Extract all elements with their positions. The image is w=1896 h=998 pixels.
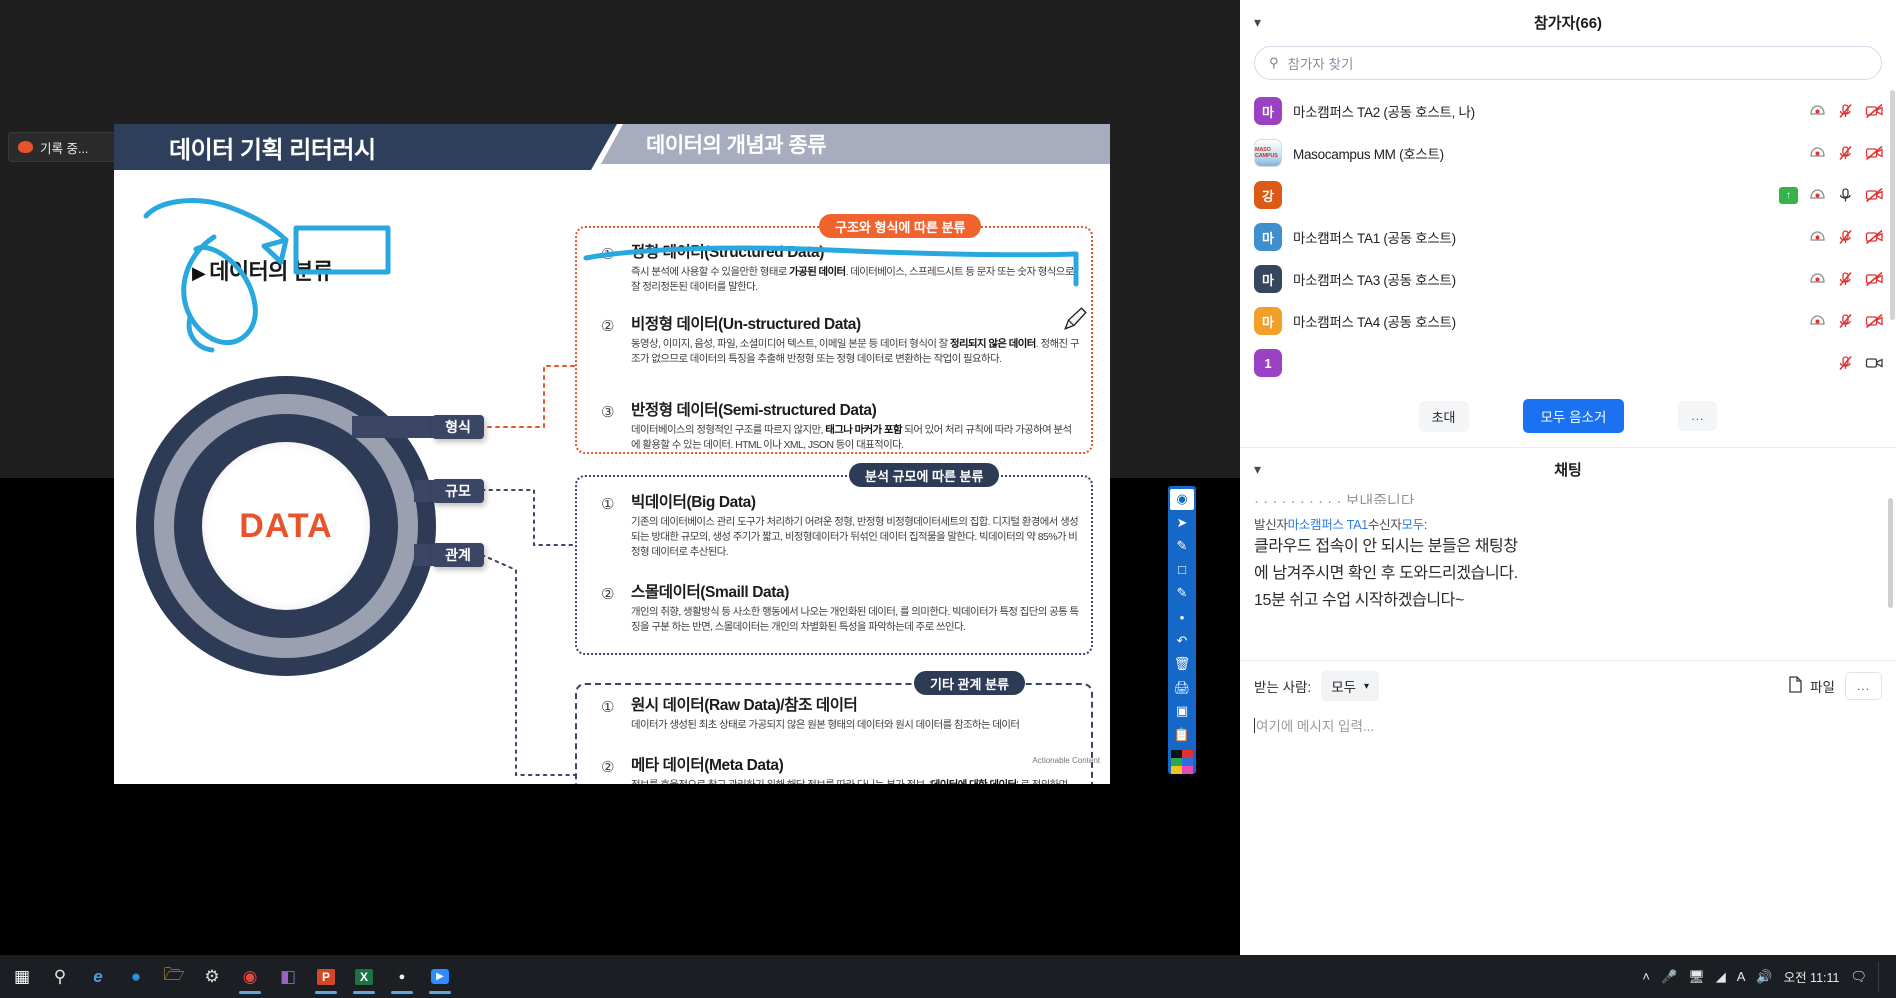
video-muted-icon [1865,313,1882,329]
video-muted-icon [1865,229,1882,245]
video-muted-icon [1865,187,1882,203]
settings-icon[interactable]: ⚙ [194,957,230,997]
chat-recipient-value: 모두 [1331,676,1356,696]
highlighter-icon[interactable]: ✎ [1170,583,1194,604]
list-item: ① 빅데이터(Big Data) 기존의 데이터베이스 관리 도구가 처리하기 … [601,493,1079,560]
item-number: ② [601,585,614,603]
presentation-slide: 데이터 기획 리터러시 데이터의 개념과 종류 ▶ [114,124,1110,784]
file-explorer-icon[interactable]: 🗁 [156,957,192,997]
wifi-icon[interactable]: ◢ [1716,969,1726,985]
page-section-title: ▶데이터의 분류 [192,254,333,286]
cursor-icon[interactable]: ➤ [1170,513,1194,534]
participant-status-icons: ↑ [1779,187,1882,204]
list-item: ③ 반정형 데이터(Semi-structured Data) 데이터베이스의 … [601,401,1079,453]
branch-label-scale: 규모 [432,479,484,503]
chat-file-button[interactable]: 파일 [1788,676,1835,696]
participant-status-icons [1809,229,1882,245]
chat-colon: : [1424,518,1427,532]
item-number: ② [601,758,614,776]
color-swatch-black[interactable] [1171,750,1182,758]
ime-icon[interactable]: A [1737,969,1746,984]
recording-icon [18,141,33,153]
mic-on-icon [1837,187,1854,203]
participant-status-icons [1809,145,1882,161]
chat-from-label: 발신자 [1254,518,1288,532]
mic-icon[interactable]: 🎤 [1661,969,1677,985]
avatar: 마 [1254,307,1282,335]
item-desc: 정보를 효율적으로 찾고 관리하기 위해 해당 정보를 따라 다니는 부가 정보… [631,778,1079,784]
mic-muted-icon [1837,145,1854,161]
participant-status-icons [1809,313,1882,329]
participants-title: 참가자(66) [1534,12,1602,33]
mic-muted-icon [1837,313,1854,329]
item-title: 비정형 데이터(Un-structured Data) [631,315,1079,335]
branch-label-relation: 관계 [432,543,484,567]
chat-input[interactable]: 여기에 메시지 입력... [1240,711,1896,739]
list-item: ① 원시 데이터(Raw Data)/참조 데이터 데이터가 생성된 최초 상태… [601,696,1079,733]
chevron-down-icon[interactable]: ▾ [1254,14,1261,31]
participants-header: ▾ 참가자(66) [1240,0,1896,44]
participant-status-icons [1837,355,1882,371]
video-muted-icon [1865,271,1882,287]
group-tag-format: 구조와 형식에 따른 분류 [819,214,981,238]
chat-message-meta: 발신자마소캠퍼스 TA1수신자모두: [1254,514,1882,533]
participant-row[interactable]: 마 마소캠퍼스 TA1 (공동 호스트) [1240,216,1896,258]
color-swatch-yellow[interactable] [1171,766,1182,774]
chat-clipped-line: · · · · · · · · · · 보내줍니다 [1254,490,1882,504]
chat-title: 채팅 [1554,459,1582,480]
item-desc: 즉시 분석에 사용할 수 있을만한 형태로 가공된 데이터. 데이터베이스, 스… [631,265,1079,295]
display-icon[interactable]: 🖥 [1688,969,1705,985]
slide-title-right: 데이터의 개념과 종류 [601,124,1110,164]
participant-row[interactable]: 강 ↑ [1240,174,1896,216]
annotation-toolbar[interactable]: ◉ ➤ ✎ □ ✎ • ↶ 🗑 🖨 ▣ 📋 [1168,486,1196,774]
item-title: 정형 데이터(Structured Data) [631,243,1079,263]
video-muted-icon [1865,103,1882,119]
branch-label-format: 형식 [432,415,484,439]
color-swatch-blue[interactable] [1182,758,1193,766]
participant-more-button[interactable]: ... [1678,401,1717,431]
participant-name: 마소캠퍼스 TA2 (공동 호스트, 나) [1293,101,1475,121]
chrome-icon[interactable]: ◉ [232,957,268,997]
location-icon[interactable]: ● [384,957,420,997]
mute-all-button[interactable]: 모두 음소거 [1523,399,1625,433]
record-icon [1809,229,1826,245]
slide-title-left-text: 데이터 기획 리터러시 [169,130,376,165]
participant-name: 마소캠퍼스 TA1 (공동 호스트) [1293,227,1456,247]
slide-header: 데이터 기획 리터러시 데이터의 개념과 종류 [114,124,1110,170]
mic-muted-icon [1837,271,1854,287]
participant-name: Masocampus MM (호스트) [1293,143,1444,163]
item-title: 메타 데이터(Meta Data) [631,756,1079,776]
list-item: ② 스몰데이터(Smaill Data) 개인의 취향, 생활방식 등 사소한 … [601,583,1079,635]
notification-icon[interactable]: 🗨 [1850,969,1867,985]
participant-row[interactable]: 마 마소캠퍼스 TA2 (공동 호스트, 나) [1240,90,1896,132]
participant-status-icons [1809,103,1882,119]
mic-muted-icon [1837,229,1854,245]
chat-scrollbar[interactable] [1888,498,1893,608]
chat-message-line: 클라우드 접속이 안 되시는 분들은 채팅창 [1254,534,1882,560]
item-title: 스몰데이터(Smaill Data) [631,583,1079,603]
chat-toolbar: 받는 사람: 모두 ▾ 파일 ... [1240,660,1896,711]
clipboard-icon[interactable]: 📋 [1170,724,1194,745]
raise-hand-icon: ↑ [1779,187,1798,204]
recording-label: 기록 중... [40,138,88,157]
avatar: 강 [1254,181,1282,209]
participant-actions: 초대 모두 음소거 ... [1240,384,1896,448]
search-icon[interactable]: ⚲ [42,957,78,997]
show-desktop-button[interactable] [1878,962,1887,992]
color-swatch-pink[interactable] [1182,766,1193,774]
chat-recipient-select[interactable]: 모두 ▾ [1321,671,1379,701]
avatar: 마 [1254,265,1282,293]
zoom-icon[interactable]: ▶ [422,957,458,997]
mic-muted-icon [1837,355,1854,371]
participant-row[interactable]: 마 마소캠퍼스 TA3 (공동 호스트) [1240,258,1896,300]
internet-explorer-icon[interactable]: e [80,957,116,997]
list-item: ② 비정형 데이터(Un-structured Data) 동영상, 이미지, … [601,315,1079,367]
item-number: ① [601,245,614,263]
triangle-bullet-icon: ▶ [192,263,205,283]
chat-to-name: 모두 [1402,518,1424,532]
mic-muted-icon [1837,103,1854,119]
record-icon [1809,187,1826,203]
powerpoint-icon[interactable]: P [308,957,344,997]
list-item: ① 정형 데이터(Structured Data) 즉시 분석에 사용할 수 있… [601,243,1079,295]
volume-icon[interactable]: 🔊 [1756,969,1772,985]
participant-row[interactable]: 마 마소캠퍼스 TA4 (공동 호스트) [1240,300,1896,342]
shared-screen-stage: 기록 중... 데이터 기획 리터러시 데이터의 개념과 종류 [0,0,1240,955]
item-desc: 개인의 취향, 생활방식 등 사소한 행동에서 나오는 개인화된 데이터, 를 … [631,605,1079,635]
chat-input-placeholder: 여기에 메시지 입력... [1256,715,1374,735]
record-icon [1809,145,1826,161]
chat-message-line: 에 남겨주시면 확인 후 도와드리겠습니다. [1254,561,1882,587]
item-number: ② [601,317,614,335]
search-input[interactable]: 참가자 찾기 [1288,53,1354,73]
participant-row[interactable]: 1 [1240,342,1896,384]
pen-icon[interactable]: ✎ [1170,536,1194,557]
chat-to-label: 수신자 [1368,518,1402,532]
eye-icon[interactable]: ◉ [1170,489,1194,510]
taskbar-tray: ˄ 🎤 🖥 ◢ A 🔊 오전 11:11 🗨 [1642,962,1896,992]
slide-title-left: 데이터 기획 리터러시 [114,124,617,170]
save-icon[interactable]: 🖨 [1170,677,1194,698]
excel-icon[interactable]: X [346,957,382,997]
chevron-down-icon: ▾ [1364,681,1369,692]
participant-name: 마소캠퍼스 TA4 (공동 호스트) [1293,311,1456,331]
chat-more-button[interactable]: ... [1845,672,1882,700]
item-number: ① [601,495,614,513]
participant-list-scrollbar[interactable] [1890,90,1895,320]
pen-cursor-icon [1062,306,1088,332]
taskbar-apps: ▦ ⚲ e ● 🗁 ⚙ ◉ ◧ P X ● ▶ [0,957,458,997]
donut-center-label: DATA [202,442,370,610]
slide-title-right-text: 데이터의 개념과 종류 [646,129,826,159]
shape-icon[interactable]: □ [1170,560,1194,581]
item-title: 반정형 데이터(Semi-structured Data) [631,401,1079,421]
participant-status-icons [1809,271,1882,287]
list-item: ② 메타 데이터(Meta Data) 정보를 효율적으로 찾고 관리하기 위해… [601,756,1079,784]
right-side-panel: ▾ 참가자(66) ⚲ 참가자 찾기 마 마소캠퍼스 TA2 (공동 호스트, … [1240,0,1896,955]
item-title: 원시 데이터(Raw Data)/참조 데이터 [631,696,1079,716]
participant-search-box[interactable]: ⚲ 참가자 찾기 [1254,46,1882,80]
chat-header: ▾ 채팅 [1240,448,1896,490]
group-tag-scale: 분석 규모에 따른 분류 [849,463,999,487]
item-title: 빅데이터(Big Data) [631,493,1079,513]
onenote-icon[interactable]: ◧ [270,957,306,997]
color-swatch-green[interactable] [1171,758,1182,766]
participant-row[interactable]: MASO CAMPUS Masocampus MM (호스트) [1240,132,1896,174]
invite-button[interactable]: 초대 [1419,401,1469,432]
color-swatch-red[interactable] [1182,750,1193,758]
chat-file-label: 파일 [1810,676,1835,696]
avatar: 마 [1254,223,1282,251]
chevron-down-icon[interactable]: ▾ [1254,461,1261,478]
dot-icon[interactable]: • [1170,607,1194,628]
participant-list: 마 마소캠퍼스 TA2 (공동 호스트, 나) MASO CAMPUS [1240,88,1896,384]
participant-name: 마소캠퍼스 TA3 (공동 호스트) [1293,269,1456,289]
search-icon: ⚲ [1269,55,1279,71]
item-desc: 데이터베이스의 정형적인 구조를 따르지 않지만, 태그나 마커가 포함 되어 … [631,423,1079,453]
chat-recipient-label: 받는 사람: [1254,676,1311,696]
start-icon[interactable]: ▦ [4,957,40,997]
chat-messages: · · · · · · · · · · 보내줍니다 발신자마소캠퍼스 TA1수신… [1240,490,1896,660]
item-desc: 기존의 데이터베이스 관리 도구가 처리하기 어려운 정형, 반정형 비정형데이… [631,515,1079,560]
item-desc: 데이터가 생성된 최초 상태로 가공되지 않은 원본 형태의 데이터와 원시 데… [631,718,1079,733]
edge-icon[interactable]: ● [118,957,154,997]
chat-from-name: 마소캠퍼스 TA1 [1288,518,1368,532]
avatar: 마 [1254,97,1282,125]
avatar: 1 [1254,349,1282,377]
avatar: MASO CAMPUS [1254,139,1282,167]
text-caret [1254,718,1255,733]
video-on-icon [1865,355,1882,371]
group-tag-relation: 기타 관계 분류 [914,671,1025,695]
taskbar-clock[interactable]: 오전 11:11 [1784,967,1840,986]
chevron-up-icon[interactable]: ˄ [1642,969,1650,984]
stamp-icon[interactable]: ▣ [1170,701,1194,722]
section-title-text: 데이터의 분류 [209,259,332,284]
windows-taskbar: ▦ ⚲ e ● 🗁 ⚙ ◉ ◧ P X ● ▶ ˄ 🎤 🖥 ◢ A 🔊 오전 1… [0,955,1896,998]
slide-footer-note: Actionable Content [1032,756,1100,766]
trash-icon[interactable]: 🗑 [1170,654,1194,675]
slide-body: ▶데이터의 분류 DATA 형식 규모 관계 구조와 형식 [114,170,1110,784]
item-desc: 동영상, 이미지, 음성, 파일, 소셜미디어 텍스트, 이메일 본문 등 데이… [631,337,1079,367]
video-muted-icon [1865,145,1882,161]
chat-message-line: 15분 쉬고 수업 시작하겠습니다~ [1254,588,1882,614]
record-icon [1809,271,1826,287]
item-number: ① [601,698,614,716]
record-icon [1809,103,1826,119]
undo-icon[interactable]: ↶ [1170,630,1194,651]
record-icon [1809,313,1826,329]
item-number: ③ [601,403,614,421]
file-icon [1788,676,1803,696]
